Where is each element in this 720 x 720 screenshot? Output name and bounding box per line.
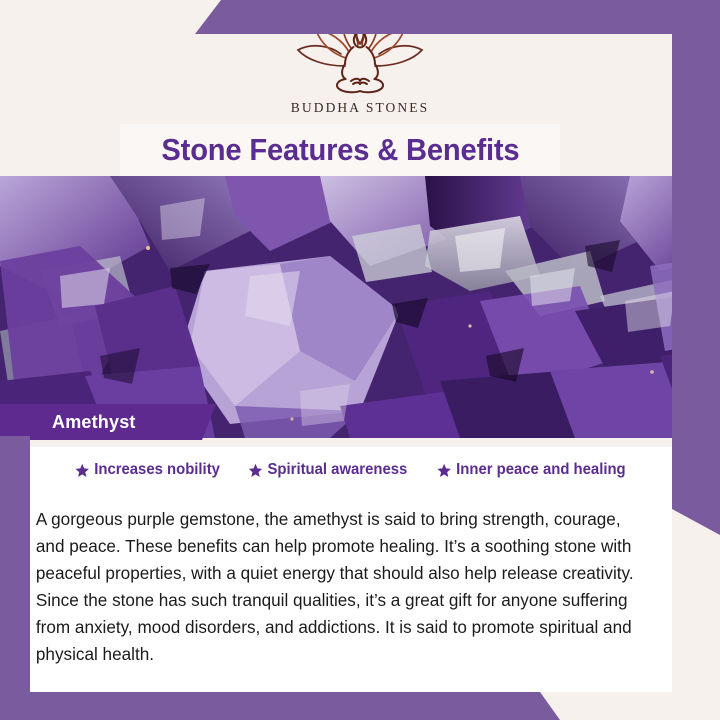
frame-accent-left (0, 436, 30, 720)
infographic-page: BUDDHA STONES Stone Features & Benefits (0, 0, 720, 720)
stone-name-tag: Amethyst (0, 404, 216, 440)
benefit-item-1: Increases nobility (75, 461, 220, 479)
title-banner: Stone Features & Benefits (120, 124, 560, 176)
star-icon (437, 463, 451, 478)
benefit-item-3: Inner peace and healing (437, 461, 626, 479)
benefit-label: Spiritual awareness (268, 461, 408, 479)
frame-accent-right (672, 0, 720, 535)
frame-accent-bottom (0, 692, 560, 720)
content-card: Increases nobility Spiritual awareness I… (30, 447, 672, 692)
benefit-label: Increases nobility (95, 461, 221, 479)
benefit-item-2: Spiritual awareness (249, 461, 408, 479)
benefits-list: Increases nobility Spiritual awareness I… (30, 447, 672, 485)
amethyst-crystal-cluster-image (0, 176, 720, 438)
brand-name: BUDDHA STONES (291, 100, 429, 116)
frame-accent-top (195, 0, 720, 34)
stone-description: A gorgeous purple gemstone, the amethyst… (30, 502, 662, 668)
stone-name: Amethyst (52, 412, 136, 433)
star-icon (249, 463, 263, 478)
benefit-label: Inner peace and healing (456, 461, 626, 479)
page-title: Stone Features & Benefits (161, 132, 519, 168)
star-icon (75, 463, 89, 478)
